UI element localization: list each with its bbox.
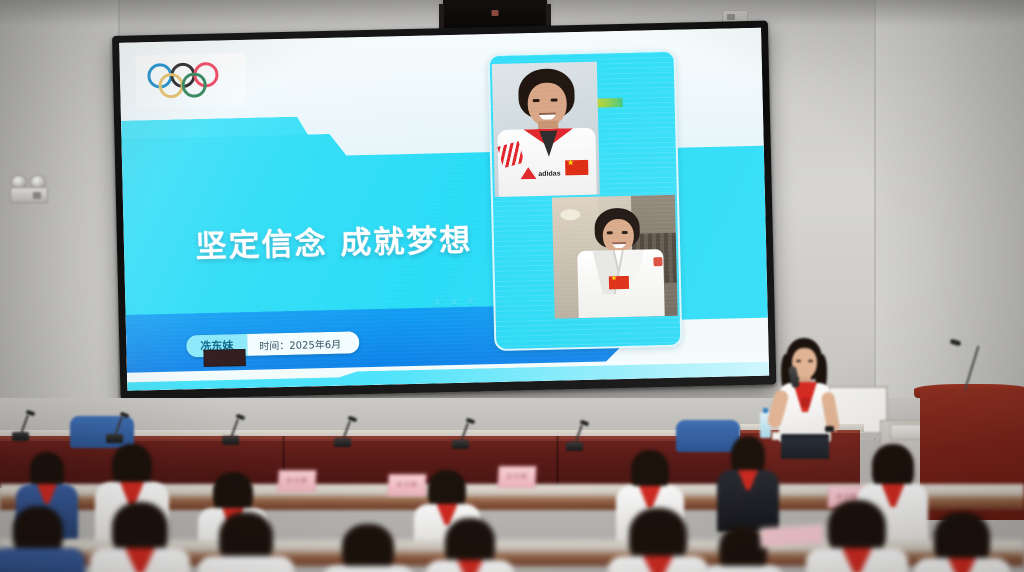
photo-portrait-judogi — [552, 195, 678, 319]
right-wall — [874, 0, 1024, 420]
audience-member-8 — [0, 506, 86, 572]
audience-member-10 — [196, 512, 296, 572]
photo-collage-panel: adidas — [488, 50, 683, 351]
name-card-3: 名字牌 — [497, 466, 536, 488]
laptop — [890, 424, 924, 440]
audience-member-16 — [912, 512, 1012, 572]
name-card-text: 名字牌 — [279, 476, 315, 485]
rings-plate — [135, 53, 246, 108]
screen-bezel: 坚定信念 成就梦想 冼东妹 时间：2025年6月 ★ ★ ★ — [112, 21, 776, 400]
slide-dark-chip — [203, 349, 245, 367]
audience-member-12 — [424, 518, 516, 572]
star-decoration: ★ ★ ★ — [431, 292, 477, 310]
audience-member-9 — [88, 502, 192, 572]
presentation-slide: 坚定信念 成就梦想 冼东妹 时间：2025年6月 ★ ★ ★ — [119, 28, 769, 391]
wall-seam-right — [874, 0, 876, 440]
name-card-1: 名字牌 — [277, 470, 316, 492]
audience-member-13 — [606, 508, 710, 572]
audience-area: 名字牌 名字牌 名字牌 名字牌 — [0, 440, 1024, 572]
projection-screen[interactable]: 坚定信念 成就梦想 冼东妹 时间：2025年6月 ★ ★ ★ — [112, 21, 776, 400]
name-card-text: 名字牌 — [499, 472, 535, 481]
emergency-light-icon — [10, 175, 50, 205]
lecture-hall-scene: 坚定信念 成就梦想 冼东妹 时间：2025年6月 ★ ★ ★ — [0, 0, 1024, 572]
screen-display: 坚定信念 成就梦想 冼东妹 时间：2025年6月 ★ ★ ★ — [119, 28, 769, 391]
olympic-rings-icon — [145, 61, 238, 99]
photo-portrait-tracksuit: adidas — [492, 62, 600, 197]
audience-member-6 — [716, 436, 780, 526]
audience-member-11 — [320, 524, 416, 572]
speaker-date: 时间：2025年6月 — [247, 331, 359, 356]
